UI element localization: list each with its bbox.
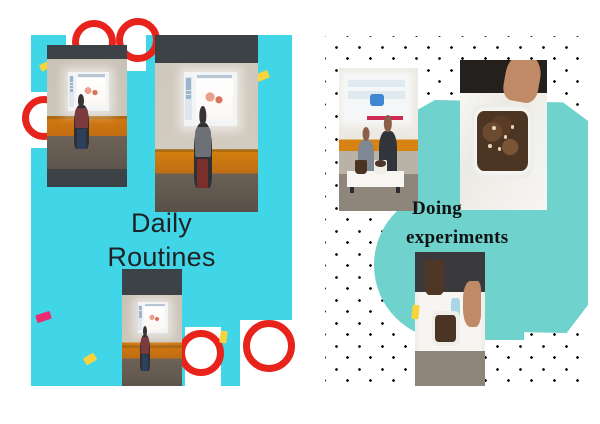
page-title-doing-experiments: Doing experiments (412, 196, 597, 250)
poster-page: Daily Routines (0, 0, 600, 424)
photo-student-presenting-3 (122, 269, 182, 386)
red-ring-bottom-right (243, 320, 295, 372)
daily-title-line-1: Daily (31, 206, 292, 240)
right-page: Doing experiments (300, 0, 600, 424)
photo-hand-planting-seeds (460, 60, 547, 210)
photo-student-presenting-2 (155, 35, 258, 212)
confetti-yellow-left (411, 305, 419, 320)
doing-title-line-2: experiments (406, 225, 597, 250)
red-ring-bottom-middle (178, 330, 224, 376)
photo-student-presenting-1 (47, 45, 127, 187)
left-page: Daily Routines (0, 0, 300, 424)
page-title-daily-routines: Daily Routines (31, 206, 292, 274)
soil-pot-white (374, 160, 387, 174)
photo-desk-with-soil-bowls (415, 252, 485, 386)
photo-two-students-with-pots (339, 68, 418, 211)
soil-pot-dark (355, 160, 368, 174)
doing-title-line-1: Doing (412, 198, 462, 219)
